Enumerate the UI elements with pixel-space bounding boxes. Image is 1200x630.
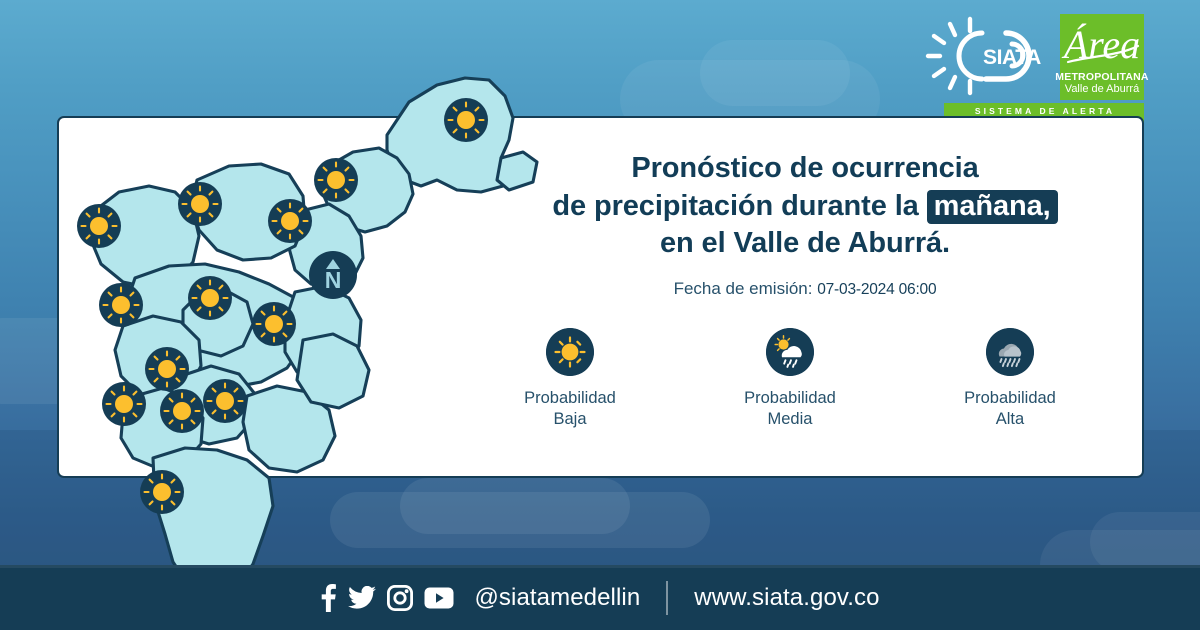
footer-bar: @siatamedellin www.siata.gov.co <box>0 565 1200 630</box>
logo-group: SIATA Área METROPOLITANA Valle de Aburrá… <box>920 14 1144 129</box>
legend-label-media-line1: Probabilidad <box>744 388 836 409</box>
title-line-3: en el Valle de Aburrá. <box>470 225 1140 263</box>
legend-label-baja-line2: Baja <box>524 409 616 430</box>
legend-item-alta[interactable]: Probabilidad Alta <box>920 328 1100 431</box>
facebook-icon[interactable] <box>320 584 337 612</box>
svg-text:N: N <box>325 267 342 293</box>
legend-item-media[interactable]: Probabilidad Media <box>700 328 880 431</box>
legend-item-baja[interactable]: Probabilidad Baja <box>480 328 660 431</box>
issue-date-value: 07-03-2024 06:00 <box>817 281 936 298</box>
area-logo-line2: Valle de Aburrá <box>1065 83 1139 96</box>
cloud-heavy-rain-icon <box>986 328 1034 376</box>
instagram-icon[interactable] <box>387 585 413 611</box>
issue-date-label: Fecha de emisión: <box>674 279 813 298</box>
marker-envigado[interactable] <box>252 302 296 346</box>
social-handle[interactable]: @siatamedellin <box>474 584 640 612</box>
website-url[interactable]: www.siata.gov.co <box>694 584 879 612</box>
legend-label-alta-line1: Probabilidad <box>964 388 1056 409</box>
title-highlight-manana: mañana, <box>927 190 1058 225</box>
marker-girardota[interactable] <box>314 158 358 202</box>
marker-caldas[interactable] <box>203 379 247 423</box>
legend-label-media-line2: Media <box>744 409 836 430</box>
issue-date: Fecha de emisión: 07-03-2024 06:00 <box>470 279 1140 299</box>
marker-sabaneta[interactable] <box>145 347 189 391</box>
marker-san-pedro[interactable] <box>77 204 121 248</box>
footer-separator <box>666 581 668 615</box>
title-line-1: Pronóstico de ocurrencia <box>470 150 1140 188</box>
page-title: Pronóstico de ocurrencia de precipitació… <box>470 150 1140 263</box>
marker-bello[interactable] <box>178 182 222 226</box>
youtube-icon[interactable] <box>424 587 454 609</box>
marker-south[interactable] <box>140 470 184 514</box>
legend-label-baja-line1: Probabilidad <box>524 388 616 409</box>
svg-text:SIATA: SIATA <box>983 46 1041 69</box>
legend-label-alta: Probabilidad Alta <box>964 388 1056 431</box>
sun-cloud-rain-icon <box>766 328 814 376</box>
background-cloud <box>1090 512 1200 572</box>
headline-block: Pronóstico de ocurrencia de precipitació… <box>470 150 1140 299</box>
area-metropolitana-logo: Área METROPOLITANA Valle de Aburrá <box>1060 14 1144 100</box>
marker-copacabana[interactable] <box>268 199 312 243</box>
marker-barbosa[interactable] <box>444 98 488 142</box>
title-line-2-text: de precipitación durante la <box>552 190 918 222</box>
marker-caldas-n[interactable] <box>160 389 204 433</box>
north-arrow-icon: N <box>309 251 357 299</box>
area-logo-line1: METROPOLITANA <box>1055 72 1148 83</box>
background-cloud <box>700 40 850 106</box>
legend-label-baja: Probabilidad Baja <box>524 388 616 431</box>
title-line-2: de precipitación durante la mañana, <box>470 188 1140 226</box>
twitter-icon[interactable] <box>348 586 376 610</box>
legend-label-media: Probabilidad Media <box>744 388 836 431</box>
marker-medellin[interactable] <box>188 276 232 320</box>
probability-legend: Probabilidad Baja <box>480 328 1100 431</box>
marker-itagui[interactable] <box>99 283 143 327</box>
marker-la-estrella[interactable] <box>102 382 146 426</box>
infographic-stage: SIATA Área METROPOLITANA Valle de Aburrá… <box>0 0 1200 630</box>
social-icons <box>320 584 454 612</box>
legend-label-alta-line2: Alta <box>964 409 1056 430</box>
siata-logo: SIATA <box>920 14 1050 98</box>
footer-divider-line <box>0 565 1200 568</box>
valle-de-aburra-map: N <box>57 40 527 600</box>
sun-icon <box>546 328 594 376</box>
